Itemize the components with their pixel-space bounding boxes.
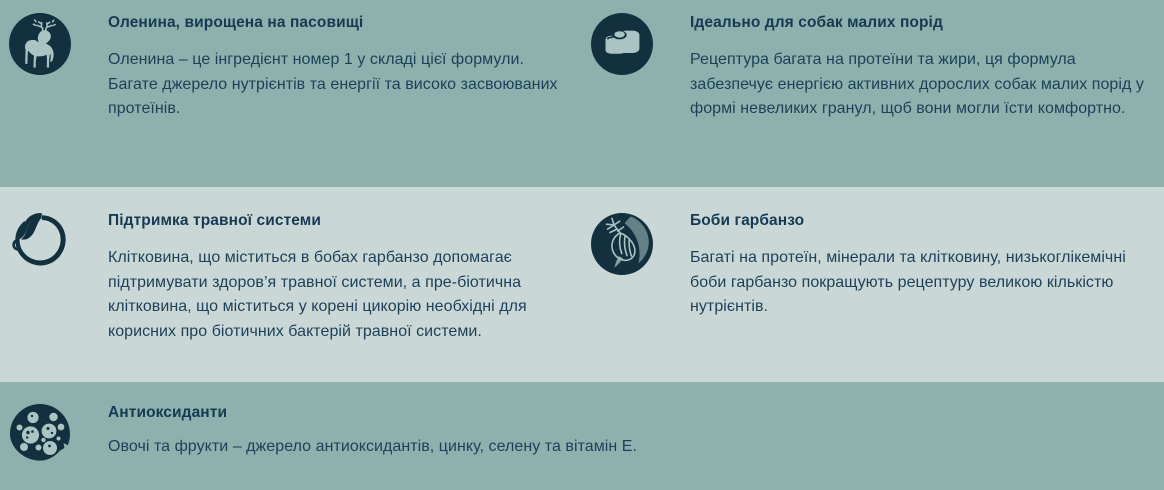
benefit-text-block: Боби гарбанзо Багаті на протеїн, мінерал… <box>690 212 1158 320</box>
benefit-title: Боби гарбанзо <box>690 212 1156 230</box>
garbanzo-bean-icon <box>590 212 654 276</box>
benefit-body: Овочі та фрукти – джерело антиоксидантів… <box>108 422 1158 460</box>
benefit-text-block: Оленина, вирощена на пасовищі Оленина – … <box>108 12 576 122</box>
deer-icon <box>8 12 72 76</box>
benefit-body: Багаті на протеїн, мінерали та клітковин… <box>690 230 1156 320</box>
antioxidant-molecules-icon <box>8 402 72 466</box>
benefit-card-venison: Оленина, вирощена на пасовищі Оленина – … <box>0 0 582 187</box>
benefit-card-garbanzo: Боби гарбанзо Багаті на протеїн, мінерал… <box>582 187 1164 382</box>
benefit-body: Клітковина, що міститься в бобах гарбанз… <box>108 230 576 344</box>
benefit-title: Підтримка травної системи <box>108 212 576 230</box>
benefit-text-block: Антиоксиданти Овочі та фрукти – джерело … <box>108 402 1158 460</box>
benefit-card-small-breed: Ідеально для собак малих порід Рецептура… <box>582 0 1164 187</box>
benefit-row-2: Підтримка травної системи Клітковина, що… <box>0 187 1164 382</box>
benefit-row-1: Оленина, вирощена на пасовищі Оленина – … <box>0 0 1164 187</box>
benefit-text-block: Ідеально для собак малих порід Рецептура… <box>690 12 1158 122</box>
benefit-card-digestive: Підтримка травної системи Клітковина, що… <box>0 187 582 382</box>
benefit-body: Рецептура багата на протеїни та жири, ця… <box>690 32 1156 122</box>
benefit-text-block: Підтримка травної системи Клітковина, що… <box>108 212 576 344</box>
benefit-card-antioxidants: Антиоксиданти Овочі та фрукти – джерело … <box>0 382 1164 490</box>
benefit-row-3: Антиоксиданти Овочі та фрукти – джерело … <box>0 382 1164 490</box>
benefit-title: Ідеально для собак малих порід <box>690 14 1156 32</box>
stomach-icon <box>8 212 72 276</box>
benefit-title: Антиоксиданти <box>108 404 1158 422</box>
benefit-title: Оленина, вирощена на пасовищі <box>108 14 576 32</box>
benefits-panel: Оленина, вирощена на пасовищі Оленина – … <box>0 0 1164 490</box>
benefit-body: Оленина – це інгредієнт номер 1 у складі… <box>108 32 576 122</box>
kibble-pellets-icon <box>590 12 654 76</box>
